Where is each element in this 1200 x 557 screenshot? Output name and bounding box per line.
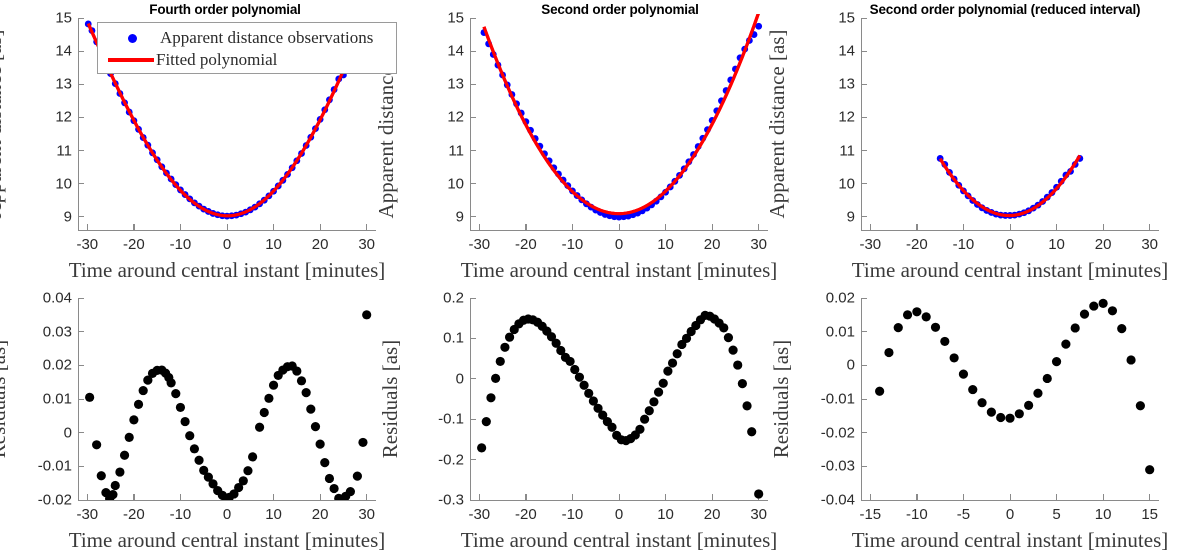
data-point <box>654 388 663 397</box>
data-point <box>97 471 106 480</box>
data-point <box>727 77 734 84</box>
data-point <box>185 431 194 440</box>
x-tick-label-top-left-2: -10 <box>170 236 192 253</box>
x-tick-label-bottom-right-6: 15 <box>1141 506 1158 523</box>
fitted-polynomial-overlay-top-right <box>940 156 1080 216</box>
data-point <box>213 486 222 495</box>
data-point <box>321 106 328 113</box>
data-point <box>681 165 688 172</box>
data-point <box>715 318 724 327</box>
data-point <box>229 489 238 498</box>
data-point <box>353 472 362 481</box>
y-tick-top-middle-2 <box>470 150 476 151</box>
y-tick-label-bottom-middle-1: -0.2 <box>404 451 464 468</box>
data-point <box>505 333 514 342</box>
y-tick-label-top-middle-5: 14 <box>404 43 464 60</box>
data-layer-bottom-left <box>0 0 1200 557</box>
data-point <box>89 27 96 34</box>
x-tick-top-left-4 <box>273 224 274 230</box>
data-point <box>221 493 230 502</box>
x-tick-label-top-left-6: 30 <box>358 236 375 253</box>
x-tick-label-bottom-left-5: 20 <box>312 506 329 523</box>
x-tick-label-bottom-right-2: -5 <box>957 506 970 523</box>
data-point <box>242 209 249 216</box>
data-point <box>331 86 338 93</box>
data-point <box>996 413 1005 422</box>
data-point <box>1049 189 1056 196</box>
data-point <box>1089 301 1098 310</box>
data-point <box>541 150 548 157</box>
data-point <box>1052 357 1061 366</box>
data-point <box>724 333 733 342</box>
x-tick-label-top-right-5: 20 <box>1095 236 1112 253</box>
x-tick-label-bottom-right-5: 10 <box>1095 506 1112 523</box>
x-tick-bottom-right-5 <box>1103 494 1104 500</box>
data-point <box>228 212 235 219</box>
x-tick-bottom-left-0 <box>87 494 88 500</box>
data-point <box>266 192 273 199</box>
x-tick-top-left-2 <box>180 224 181 230</box>
data-point <box>238 210 245 217</box>
x-axis-line-top-left <box>78 230 376 231</box>
data-point <box>1030 205 1037 212</box>
x-axis-line-top-right <box>861 230 1159 231</box>
data-point <box>1039 198 1046 205</box>
data-point <box>522 118 529 125</box>
data-point <box>1071 323 1080 332</box>
data-point <box>311 422 320 431</box>
data-point <box>121 99 128 106</box>
x-tick-top-right-4 <box>1056 224 1057 230</box>
data-point <box>631 430 640 439</box>
x-axis-line-bottom-right <box>861 500 1159 501</box>
data-point <box>588 204 595 211</box>
x-tick-bottom-left-4 <box>273 494 274 500</box>
data-layer-top-left <box>0 0 1200 557</box>
legend-fit-line-icon <box>108 58 154 62</box>
x-tick-label-top-right-1: -20 <box>906 236 928 253</box>
data-point <box>139 386 148 395</box>
data-point <box>269 381 278 390</box>
data-point <box>875 387 884 396</box>
data-point <box>519 316 528 325</box>
x-tick-label-bottom-right-0: -15 <box>859 506 881 523</box>
x-tick-label-top-right-4: 10 <box>1048 236 1065 253</box>
y-tick-label-bottom-left-4: 0.02 <box>12 357 72 374</box>
legend-observation-marker-icon <box>128 34 137 43</box>
x-tick-label-top-middle-5: 20 <box>704 236 721 253</box>
data-point <box>950 353 959 362</box>
data-point <box>225 493 234 502</box>
y-tick-label-top-middle-6: 15 <box>404 10 464 27</box>
data-point <box>593 404 602 413</box>
data-point <box>490 51 497 58</box>
data-point <box>1053 184 1060 191</box>
y-tick-top-left-3 <box>78 117 84 118</box>
x-tick-label-top-left-3: 0 <box>223 236 231 253</box>
data-point <box>988 209 995 216</box>
y-tick-top-right-2 <box>861 150 867 151</box>
figure-root: Fourth order polynomial9101112131415-30-… <box>0 0 1200 557</box>
y-tick-bottom-middle-3 <box>470 378 476 379</box>
data-point <box>733 360 742 369</box>
data-point <box>196 203 203 210</box>
data-point <box>987 408 996 417</box>
data-point <box>509 91 516 98</box>
y-tick-label-bottom-right-2: -0.02 <box>795 424 855 441</box>
y-axis-line-top-left <box>78 18 79 230</box>
data-point <box>134 400 143 409</box>
data-point <box>248 452 257 461</box>
data-point <box>612 431 621 440</box>
data-point <box>1024 401 1033 410</box>
y-tick-top-middle-5 <box>470 51 476 52</box>
data-point <box>658 193 665 200</box>
data-point <box>569 188 576 195</box>
data-point <box>129 415 138 424</box>
data-point <box>275 183 282 190</box>
data-point <box>1126 355 1135 364</box>
x-tick-label-bottom-right-4: 5 <box>1052 506 1060 523</box>
data-point <box>630 211 637 218</box>
y-tick-label-bottom-right-4: 0 <box>795 357 855 374</box>
data-point <box>941 161 948 168</box>
y-tick-bottom-left-0 <box>78 500 84 501</box>
y-tick-label-bottom-left-1: -0.01 <box>12 458 72 475</box>
x-tick-label-bottom-middle-4: 10 <box>657 506 674 523</box>
x-tick-top-left-1 <box>133 224 134 230</box>
y-tick-label-bottom-middle-2: -0.1 <box>404 411 464 428</box>
x-tick-bottom-right-0 <box>870 494 871 500</box>
y-tick-bottom-right-2 <box>861 432 867 433</box>
y-tick-bottom-right-6 <box>861 298 867 299</box>
data-point <box>85 21 92 28</box>
data-point <box>1072 161 1079 168</box>
data-point <box>589 396 598 405</box>
y-tick-label-top-left-6: 15 <box>12 10 72 27</box>
x-tick-top-right-3 <box>1010 224 1011 230</box>
data-point <box>648 201 655 208</box>
y-tick-top-left-0 <box>78 216 84 217</box>
data-point <box>524 314 533 323</box>
y-tick-top-right-4 <box>861 84 867 85</box>
y-tick-label-bottom-right-3: -0.01 <box>795 391 855 408</box>
data-point <box>341 492 350 501</box>
data-point <box>1062 172 1069 179</box>
data-point <box>161 368 170 377</box>
data-point <box>671 178 678 185</box>
data-point <box>993 211 1000 218</box>
data-point <box>550 164 557 171</box>
x-tick-top-right-1 <box>916 224 917 230</box>
data-point <box>536 143 543 150</box>
data-point <box>243 466 252 475</box>
data-point <box>527 127 534 134</box>
data-point <box>592 207 599 214</box>
x-tick-label-top-right-0: -30 <box>859 236 881 253</box>
data-point <box>931 323 940 332</box>
data-point <box>177 187 184 194</box>
data-point <box>234 483 243 492</box>
data-point <box>500 343 509 352</box>
markers-bottom-right <box>875 299 1154 475</box>
data-point <box>560 177 567 184</box>
data-point <box>983 207 990 214</box>
data-point <box>92 440 101 449</box>
data-point <box>574 192 581 199</box>
data-point <box>205 208 212 215</box>
y-tick-bottom-left-5 <box>78 331 84 332</box>
x-tick-label-top-middle-4: 10 <box>657 236 674 253</box>
x-tick-top-left-6 <box>366 224 367 230</box>
data-point <box>292 366 301 375</box>
panel-bottom-right: -0.04-0.03-0.02-0.0100.010.02-15-10-5051… <box>0 0 1200 557</box>
panel-top-middle: Second order polynomial9101112131415-30-… <box>0 0 1200 557</box>
data-point <box>312 125 319 132</box>
data-point <box>542 327 551 336</box>
data-point <box>1108 306 1117 315</box>
y-tick-top-middle-3 <box>470 117 476 118</box>
x-tick-bottom-middle-3 <box>619 494 620 500</box>
y-tick-bottom-middle-5 <box>470 298 476 299</box>
data-point <box>737 54 744 61</box>
data-point <box>1067 168 1074 175</box>
panel-top-left: Fourth order polynomial9101112131415-30-… <box>0 0 1200 557</box>
data-point <box>164 373 173 382</box>
data-point <box>751 31 758 38</box>
data-point <box>690 151 697 158</box>
data-point <box>1145 465 1154 474</box>
data-point <box>486 393 495 402</box>
data-point <box>316 440 325 449</box>
data-point <box>247 206 254 213</box>
data-point <box>297 376 306 385</box>
x-axis-label-bottom-middle: Time around central instant [minutes] <box>428 528 810 553</box>
y-tick-label-top-right-4: 13 <box>795 76 855 93</box>
data-point <box>1002 212 1009 219</box>
y-tick-label-top-left-4: 13 <box>12 76 72 93</box>
x-tick-label-top-left-5: 20 <box>312 236 329 253</box>
data-point <box>140 134 147 141</box>
data-point <box>603 417 612 426</box>
data-point <box>738 379 747 388</box>
data-point <box>346 487 355 496</box>
y-tick-label-bottom-middle-5: 0.2 <box>404 290 464 307</box>
data-point <box>602 211 609 218</box>
data-point <box>191 199 198 206</box>
data-point <box>210 210 217 217</box>
data-point <box>279 177 286 184</box>
data-layer-bottom-right <box>0 0 1200 557</box>
data-point <box>283 362 292 371</box>
data-point <box>746 37 753 44</box>
markers-bottom-left <box>85 310 371 506</box>
y-tick-label-top-left-2: 11 <box>12 142 72 159</box>
x-tick-bottom-right-6 <box>1149 494 1150 500</box>
panel-title-top-middle: Second order polynomial <box>455 2 785 17</box>
x-tick-top-middle-2 <box>572 224 573 230</box>
data-point <box>302 388 311 397</box>
data-point <box>101 488 110 497</box>
data-point <box>552 339 561 348</box>
data-point <box>219 212 226 219</box>
data-point <box>974 201 981 208</box>
data-point <box>639 207 646 214</box>
data-point <box>270 188 277 195</box>
x-tick-label-bottom-left-6: 30 <box>358 506 375 523</box>
data-point <box>200 206 207 213</box>
y-axis-label-bottom-left: Residuals [as] <box>0 298 11 500</box>
x-tick-top-middle-4 <box>665 224 666 230</box>
panel-title-top-left: Fourth order polynomial <box>60 2 390 17</box>
y-tick-label-top-middle-0: 9 <box>404 208 464 225</box>
data-point <box>1025 207 1032 214</box>
y-tick-label-top-right-3: 12 <box>795 109 855 126</box>
data-point <box>298 150 305 157</box>
data-point <box>1005 414 1014 423</box>
y-tick-label-bottom-left-6: 0.04 <box>12 290 72 307</box>
x-tick-bottom-left-2 <box>180 494 181 500</box>
y-tick-label-bottom-left-2: 0 <box>12 424 72 441</box>
data-point <box>1080 310 1089 319</box>
panel-bottom-middle: -0.3-0.2-0.100.10.2-30-20-100102030Time … <box>0 0 1200 557</box>
data-point <box>518 110 525 117</box>
data-point <box>621 436 630 445</box>
y-tick-bottom-left-1 <box>78 466 84 467</box>
data-point <box>598 411 607 420</box>
data-point <box>190 444 199 453</box>
data-point <box>1033 389 1042 398</box>
y-tick-top-right-6 <box>861 18 867 19</box>
data-point <box>186 195 193 202</box>
data-point <box>306 405 315 414</box>
x-axis-label-top-right: Time around central instant [minutes] <box>819 258 1200 283</box>
data-point <box>644 205 651 212</box>
data-point <box>713 107 720 114</box>
data-point <box>997 212 1004 219</box>
data-point <box>325 474 334 483</box>
y-tick-label-bottom-middle-4: 0.1 <box>404 330 464 347</box>
x-tick-label-top-middle-2: -10 <box>562 236 584 253</box>
y-tick-label-bottom-middle-3: 0 <box>404 370 464 387</box>
data-point <box>951 176 958 183</box>
y-axis-label-top-right: Apparent distance [as] <box>765 18 790 230</box>
data-point <box>626 434 635 443</box>
y-tick-bottom-middle-2 <box>470 419 476 420</box>
data-point <box>682 334 691 343</box>
y-tick-top-left-6 <box>78 18 84 19</box>
x-tick-bottom-right-4 <box>1056 494 1057 500</box>
x-tick-top-left-0 <box>87 224 88 230</box>
data-point <box>687 327 696 336</box>
x-tick-top-left-5 <box>320 224 321 230</box>
data-point <box>112 80 119 87</box>
markers-top-right <box>937 155 1083 219</box>
data-point <box>1044 194 1051 201</box>
y-axis-label-top-left: Apparent distance [as] <box>0 18 7 230</box>
data-point <box>338 497 347 506</box>
y-tick-bottom-left-4 <box>78 365 84 366</box>
data-point <box>532 135 539 142</box>
y-tick-bottom-right-0 <box>861 500 867 501</box>
data-point <box>584 389 593 398</box>
data-layer-top-middle <box>0 0 1200 557</box>
data-point <box>135 126 142 133</box>
data-point <box>968 385 977 394</box>
data-point <box>362 310 371 319</box>
data-point <box>326 96 333 103</box>
x-axis-line-bottom-middle <box>470 500 768 501</box>
data-point <box>171 389 180 398</box>
data-point <box>224 213 231 220</box>
y-tick-label-top-left-3: 12 <box>12 109 72 126</box>
data-point <box>335 76 342 83</box>
y-axis-label-bottom-right: Residuals [as] <box>769 298 794 500</box>
data-point <box>653 198 660 205</box>
x-axis-label-top-left: Time around central instant [minutes] <box>36 258 418 283</box>
data-point <box>260 408 269 417</box>
data-point <box>547 332 556 341</box>
data-point <box>307 134 314 141</box>
y-tick-label-top-middle-1: 10 <box>404 175 464 192</box>
data-point <box>1061 340 1070 349</box>
x-tick-label-bottom-left-2: -10 <box>170 506 192 523</box>
y-tick-top-middle-6 <box>470 18 476 19</box>
x-tick-bottom-left-5 <box>320 494 321 500</box>
data-point <box>695 143 702 150</box>
y-tick-bottom-right-5 <box>861 331 867 332</box>
x-tick-label-top-left-1: -20 <box>123 236 145 253</box>
data-point <box>482 417 491 426</box>
data-point <box>960 188 967 195</box>
x-tick-label-bottom-left-1: -20 <box>123 506 145 523</box>
data-point <box>485 40 492 47</box>
y-tick-top-right-0 <box>861 216 867 217</box>
data-point <box>709 117 716 124</box>
y-tick-label-bottom-left-0: -0.02 <box>12 492 72 509</box>
data-point <box>1043 374 1052 383</box>
data-point <box>334 494 343 503</box>
fitted-polynomial-curve-top-right <box>940 156 1080 216</box>
data-point <box>303 142 310 149</box>
data-point <box>894 323 903 332</box>
x-tick-label-bottom-left-0: -30 <box>76 506 98 523</box>
x-tick-bottom-left-6 <box>366 494 367 500</box>
y-tick-label-top-right-2: 11 <box>795 142 855 159</box>
y-tick-top-right-3 <box>861 117 867 118</box>
x-tick-bottom-right-2 <box>963 494 964 500</box>
x-tick-top-middle-6 <box>758 224 759 230</box>
data-point <box>620 213 627 220</box>
data-point <box>1136 401 1145 410</box>
x-tick-label-bottom-right-3: 0 <box>1006 506 1014 523</box>
y-axis-label-bottom-middle: Residuals [as] <box>378 298 403 500</box>
data-point <box>538 322 547 331</box>
data-point <box>158 163 165 170</box>
panel-bottom-left: -0.02-0.0100.010.020.030.04-30-20-100102… <box>0 0 1200 557</box>
data-point <box>167 378 176 387</box>
data-point <box>252 204 259 211</box>
data-point <box>903 310 912 319</box>
y-tick-label-bottom-right-6: 0.02 <box>795 290 855 307</box>
data-point <box>288 361 297 370</box>
data-point <box>677 340 686 349</box>
data-point <box>937 155 944 162</box>
data-point <box>946 169 953 176</box>
data-point <box>182 191 189 198</box>
panel-title-top-right: Second order polynomial (reduced interva… <box>820 2 1190 17</box>
data-point <box>481 29 488 36</box>
